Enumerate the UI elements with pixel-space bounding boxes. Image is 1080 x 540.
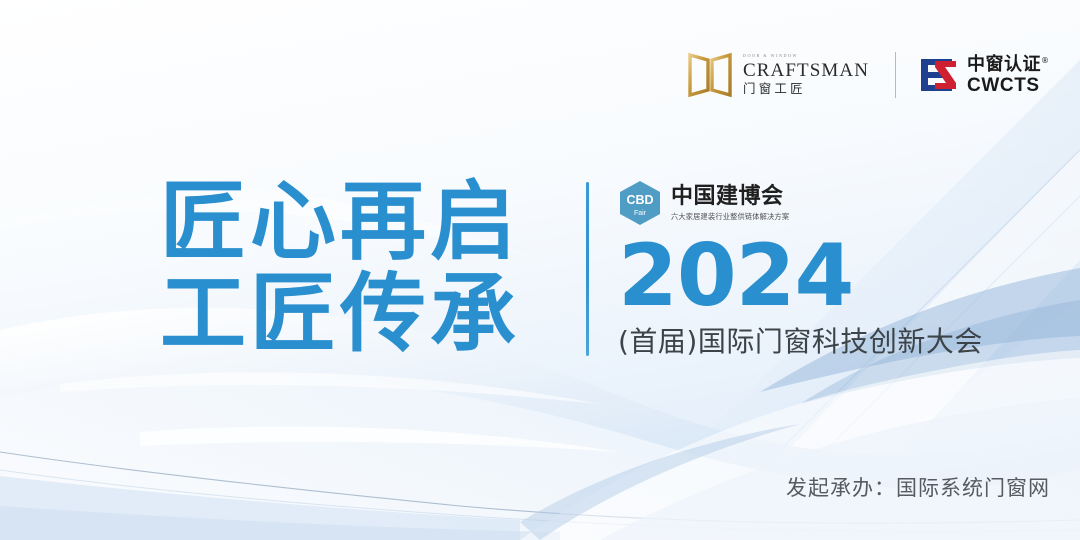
svg-text:Fair: Fair xyxy=(634,210,647,217)
cbd-tagline: 六大家居建装行业整供链体解决方案 xyxy=(671,213,789,220)
cwcts-english-name: CWCTS xyxy=(967,76,1050,95)
headline-line-1: 匠心再启 xyxy=(160,176,570,268)
headline-line-2: 工匠传承 xyxy=(160,268,570,360)
conference-name: (首届)国际门窗科技创新大会 xyxy=(618,326,983,358)
logo-separator xyxy=(895,52,896,98)
vertical-divider xyxy=(586,182,589,356)
event-info-block: CBD Fair 中国建博会 六大家居建装行业整供链体解决方案 2024 (首届… xyxy=(618,180,983,358)
cwcts-chinese-name: 中窗认证® xyxy=(967,56,1050,74)
cwcts-wordmark: 中窗认证® CWCTS xyxy=(967,56,1050,95)
sponsor-logo-bar: DOOR & WINDOW CRAFTSMAN 门窗工匠 中窗认证® CWCTS xyxy=(688,44,1050,106)
craftsman-logo: DOOR & WINDOW CRAFTSMAN 门窗工匠 xyxy=(688,52,869,98)
registered-mark-icon: ® xyxy=(1041,56,1050,65)
cwcts-cz-icon xyxy=(918,56,960,94)
organizer-credit: 发起承办：国际系统门窗网 xyxy=(786,472,1050,502)
svg-text:CBD: CBD xyxy=(626,193,653,207)
craftsman-window-icon xyxy=(688,52,732,98)
cbd-fair-logo: CBD Fair 中国建博会 六大家居建装行业整供链体解决方案 xyxy=(618,180,983,226)
cwcts-logo: 中窗认证® CWCTS xyxy=(918,56,1050,95)
event-year: 2024 xyxy=(618,232,983,320)
craftsman-english-name: CRAFTSMAN xyxy=(743,61,869,80)
craftsman-wordmark: DOOR & WINDOW CRAFTSMAN 门窗工匠 xyxy=(743,54,869,96)
event-poster: DOOR & WINDOW CRAFTSMAN 门窗工匠 中窗认证® CWCTS… xyxy=(0,0,1080,540)
craftsman-micro-text: DOOR & WINDOW xyxy=(743,54,869,58)
cbd-hexagon-icon: CBD Fair xyxy=(618,180,662,226)
cbd-title: 中国建博会 xyxy=(671,186,789,208)
cwcts-chinese-text: 中窗认证 xyxy=(967,54,1041,75)
cbd-wordmark: 中国建博会 六大家居建装行业整供链体解决方案 xyxy=(671,186,789,220)
page-title: 匠心再启 工匠传承 xyxy=(160,176,570,360)
craftsman-chinese-name: 门窗工匠 xyxy=(743,83,869,96)
